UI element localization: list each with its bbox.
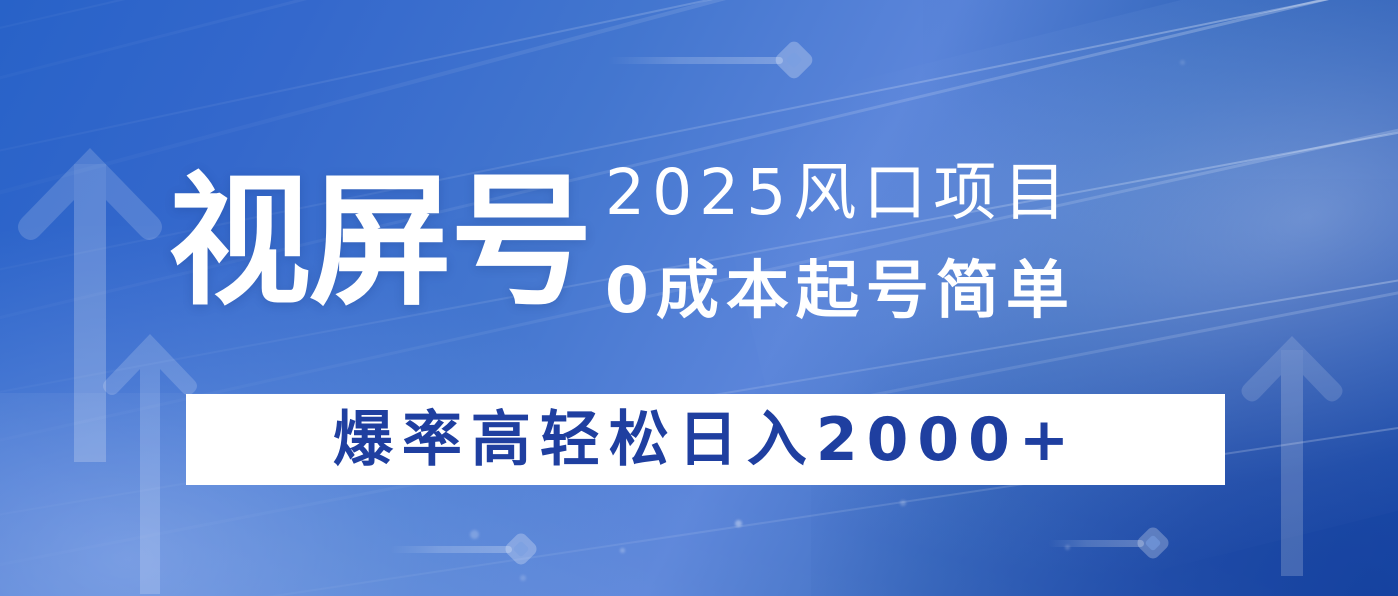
bottom-banner-text: 爆率高轻松日入2000+ xyxy=(333,410,1078,470)
subtitle-line-2: 0成本起号简单 xyxy=(605,252,1076,331)
bottom-highlight-banner: 爆率高轻松日入2000+ xyxy=(186,394,1225,485)
subtitle-stack: 2025风口项目 0成本起号简单 xyxy=(605,150,1076,331)
promotional-banner: 视屏号 2025风口项目 0成本起号简单 爆率高轻松日入2000+ xyxy=(0,0,1398,596)
headline-group: 视屏号 2025风口项目 0成本起号简单 xyxy=(168,150,1293,350)
subtitle-line-1: 2025风口项目 xyxy=(605,156,1076,230)
main-title: 视屏号 xyxy=(168,170,591,313)
